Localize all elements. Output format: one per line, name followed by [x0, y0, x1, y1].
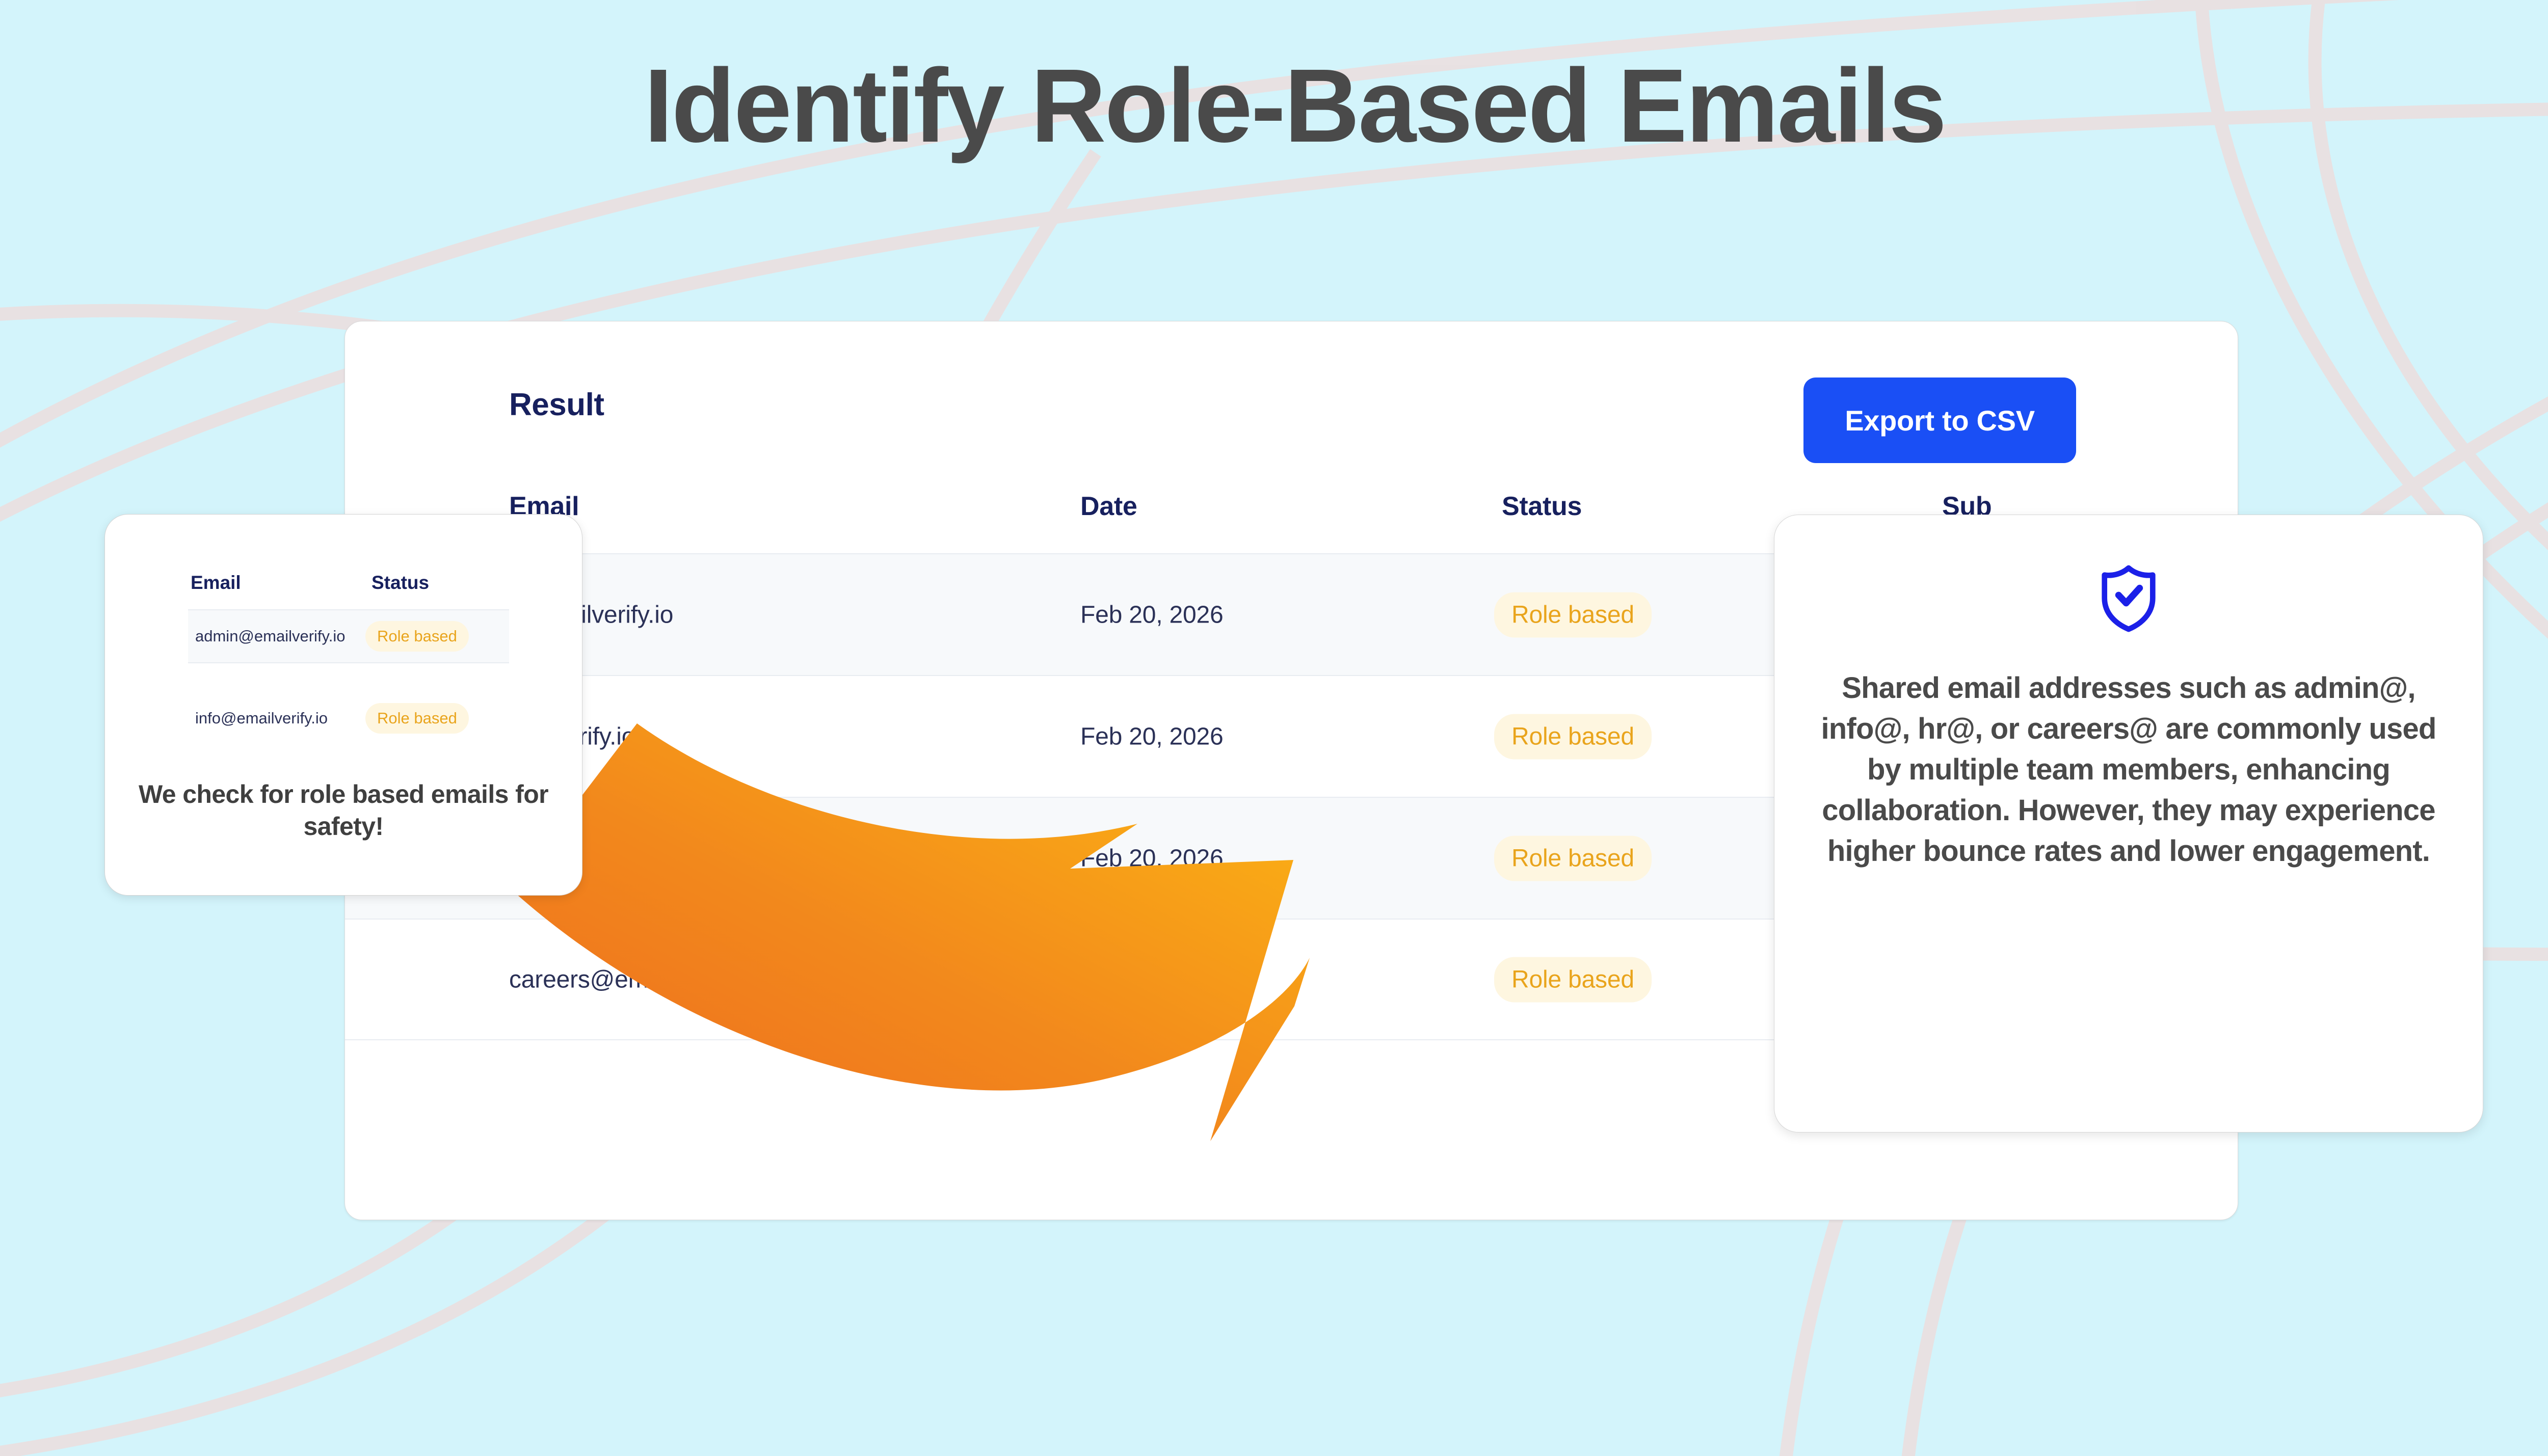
info-card: Shared email addresses such as admin@, i…: [1774, 515, 2483, 1133]
mini-cell-email: info@emailverify.io: [195, 709, 328, 727]
mini-column-header-status: Status: [371, 572, 429, 594]
page-title: Identify Role-Based Emails: [0, 53, 2548, 158]
status-badge: Role based: [1494, 957, 1652, 1002]
mini-cell-status: Role based: [365, 621, 469, 652]
cell-status: Role based: [1494, 835, 1652, 881]
mini-status-badge: Role based: [365, 703, 469, 734]
column-header-status[interactable]: Status: [1502, 491, 1582, 522]
export-to-csv-button[interactable]: Export to CSV: [1803, 378, 2076, 463]
role-based-preview-card: Email Status admin@emailverify.io Role b…: [104, 514, 582, 896]
cell-status: Role based: [1494, 957, 1652, 1002]
cell-date: Feb 20, 2026: [1080, 844, 1224, 872]
cell-status: Role based: [1494, 714, 1652, 759]
cell-date: Feb 20, 2026: [1080, 601, 1224, 629]
shield-check-icon: [2096, 564, 2161, 632]
mini-table-row[interactable]: info@emailverify.io Role based: [188, 691, 509, 745]
mini-table-body: admin@emailverify.io Role based info@ema…: [188, 609, 509, 745]
column-header-date[interactable]: Date: [1080, 491, 1137, 522]
status-badge: Role based: [1494, 592, 1652, 637]
cell-status: Role based: [1494, 592, 1652, 637]
mini-cell-status: Role based: [365, 703, 469, 734]
status-badge: Role based: [1494, 714, 1652, 759]
result-title: Result: [509, 387, 604, 423]
result-card-header: Result Export to CSV: [345, 321, 2238, 444]
mini-card-caption: We check for role based emails for safet…: [105, 778, 582, 843]
info-card-text: Shared email addresses such as admin@, i…: [1804, 668, 2453, 872]
status-badge: Role based: [1494, 835, 1652, 881]
cell-email: careers@emailverify.: [509, 965, 735, 993]
cell-date: Feb 20, 2026: [1080, 722, 1224, 750]
mini-status-badge: Role based: [365, 621, 469, 652]
mini-table-row[interactable]: admin@emailverify.io Role based: [188, 609, 509, 663]
mini-column-header-email: Email: [191, 572, 241, 594]
mini-cell-email: admin@emailverify.io: [195, 627, 346, 645]
